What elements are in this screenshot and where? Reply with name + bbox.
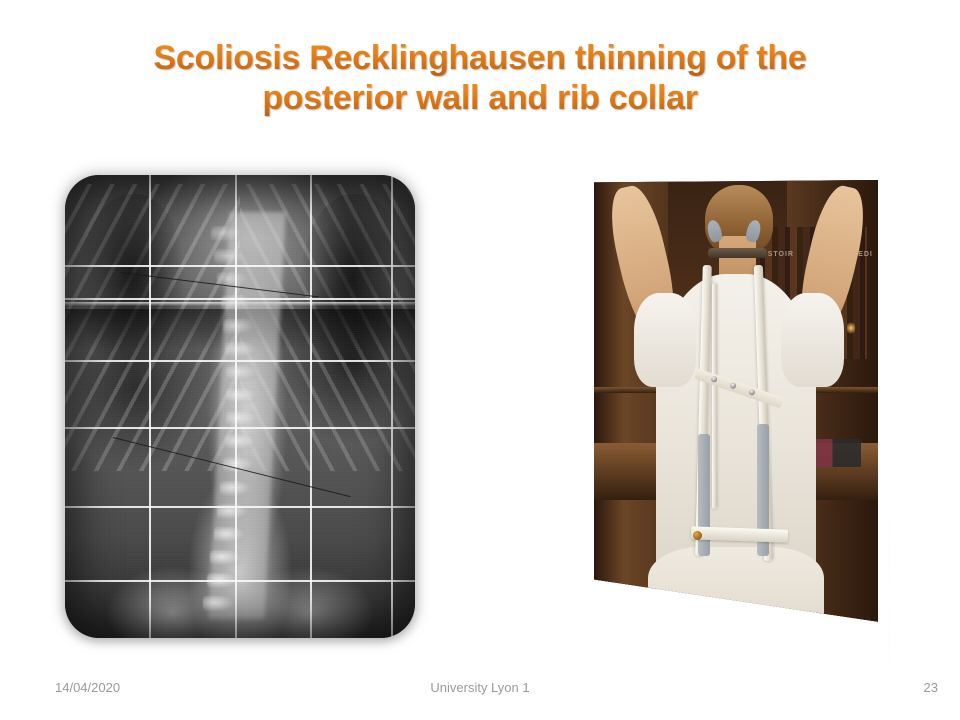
title-line-2: posterior wall and rib collar [60, 78, 900, 118]
xray-grid-line-horizontal-4 [65, 427, 415, 429]
xray-grid-line-horizontal-5 [65, 506, 415, 508]
title-line-1: Scoliosis Recklinghausen thinning of the [60, 38, 900, 78]
slide-canvas: Scoliosis Recklinghausen thinning of the… [0, 0, 960, 720]
xray-grid-line-vertical-3 [310, 175, 312, 638]
footer-page-number: 23 [924, 680, 938, 695]
photo-tshirt-sleeve-right [781, 293, 843, 387]
brace-neck-ring [708, 248, 768, 258]
page-title: Scoliosis Recklinghausen thinning of the… [60, 38, 900, 118]
xray-grid-line-horizontal-1 [65, 265, 415, 267]
slide-footer: 14/04/2020 University Lyon 1 23 [0, 680, 960, 702]
xray-canvas [65, 175, 415, 638]
brace-buckle [693, 531, 702, 540]
brace-rivet [730, 382, 738, 390]
xray-grid-line-horizontal-3 [65, 360, 415, 362]
brace-photo-frame: HISTOIR IEDI [582, 160, 890, 680]
xray-grid-line-vertical-2 [235, 175, 237, 638]
xray-grid-line-vertical-4 [391, 175, 393, 638]
xray-grid-line-horizontal-6 [65, 580, 415, 582]
brace-photo: HISTOIR IEDI [594, 180, 878, 650]
xray-grid-line-vertical-1 [149, 175, 151, 638]
xray-grid-line-horizontal-2 [65, 298, 415, 300]
brace-upright-middle [712, 283, 717, 509]
footer-organization: University Lyon 1 [0, 680, 960, 695]
photo-patient-hips [648, 547, 824, 650]
spine-xray-image [65, 175, 415, 638]
photo-tshirt-sleeve-left [634, 293, 696, 387]
photo-lamp-glow [847, 321, 855, 335]
xray-measurement-grid [65, 175, 415, 638]
brace-rivet [711, 376, 719, 384]
brace-rivet [749, 389, 757, 397]
